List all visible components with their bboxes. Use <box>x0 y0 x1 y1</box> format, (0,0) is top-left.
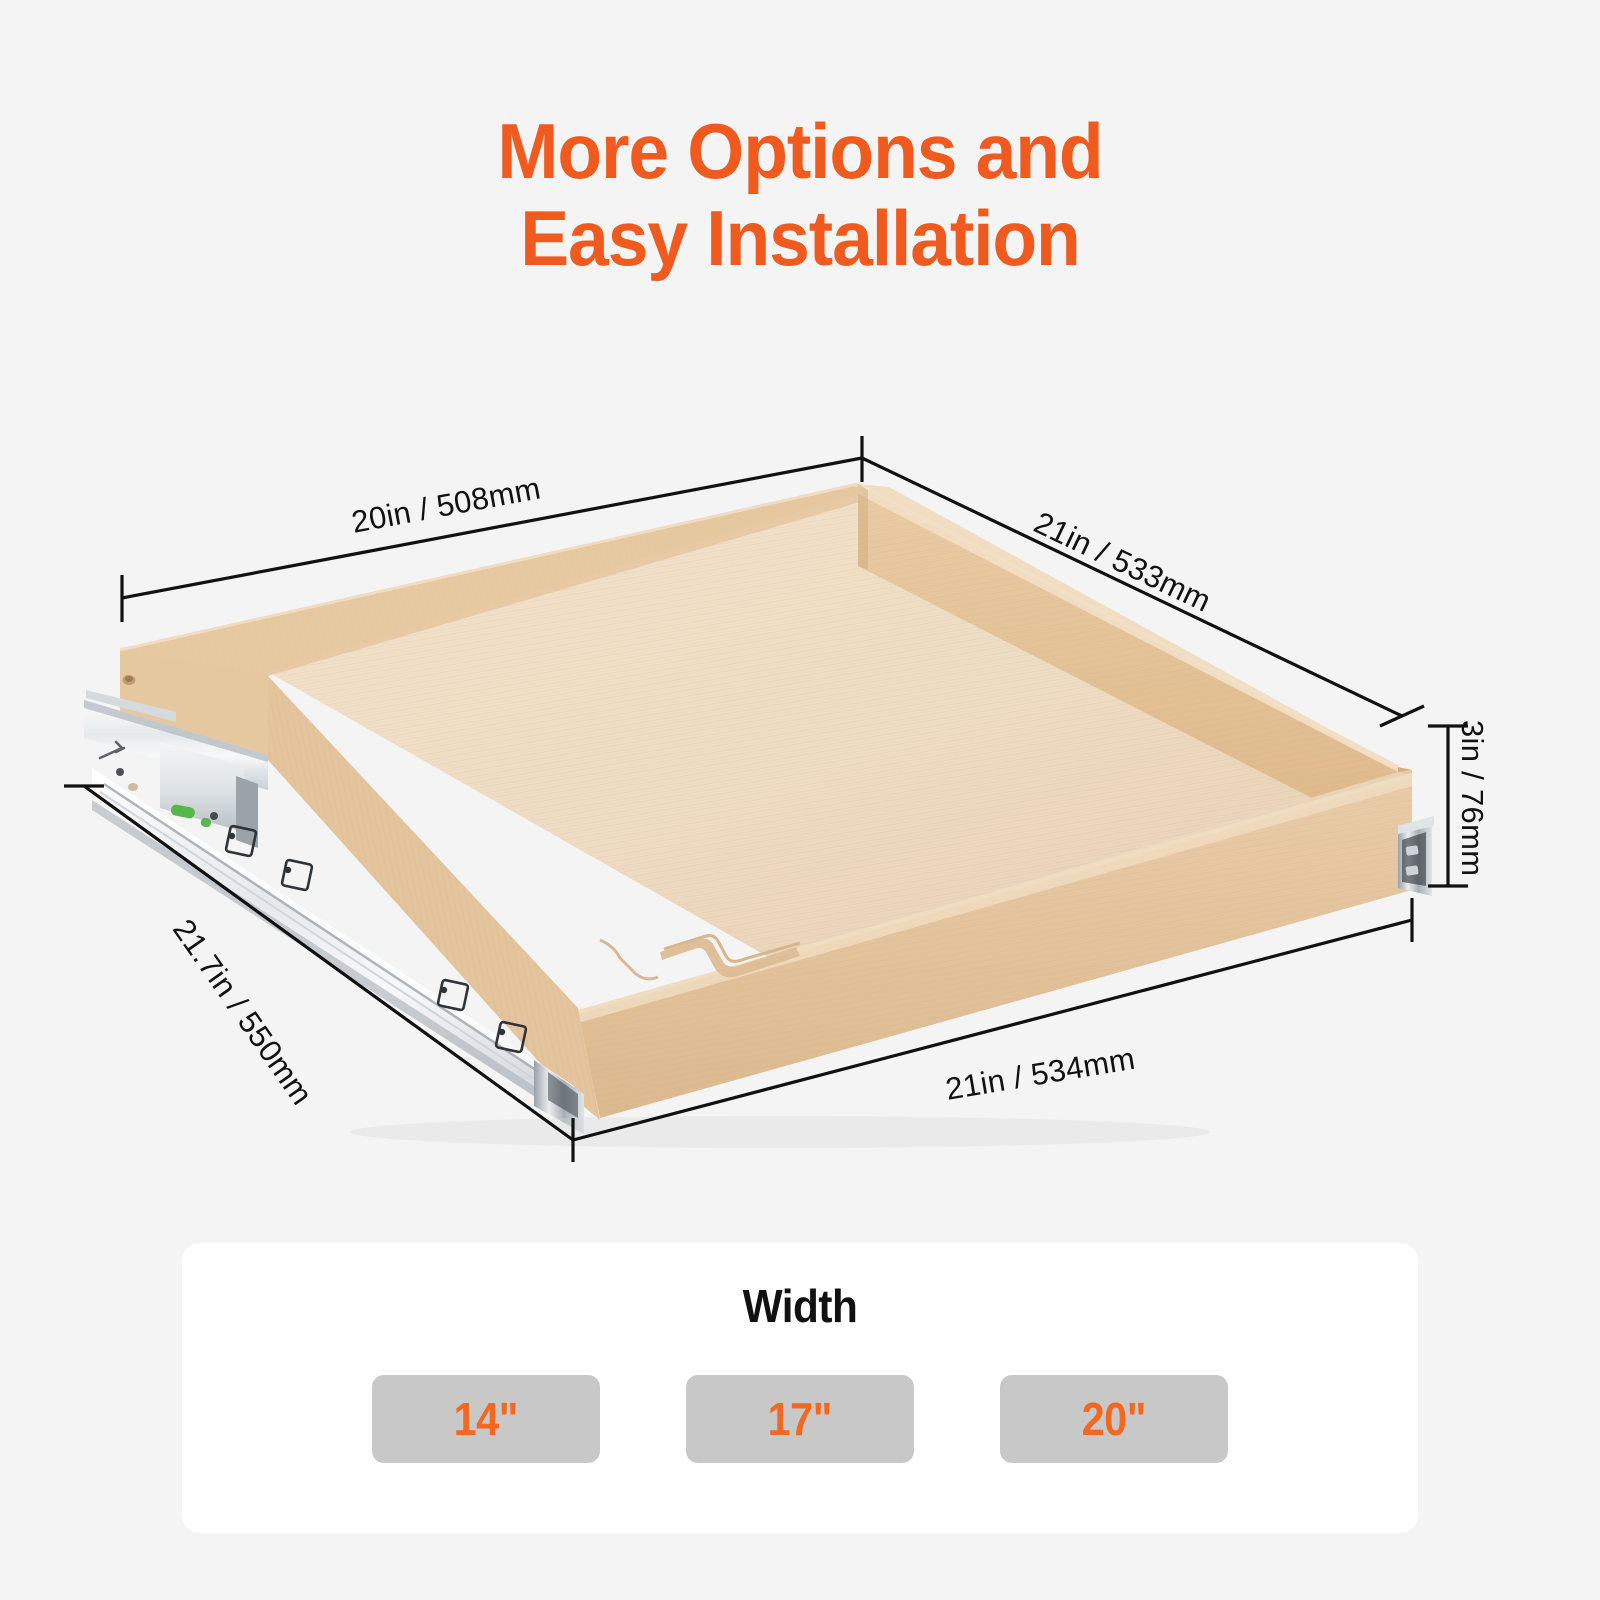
right-drawer-slide-bracket <box>1398 816 1434 896</box>
width-option-20-label: 20" <box>1082 1392 1146 1446</box>
width-option-group: 14" 17" 20" <box>182 1375 1418 1463</box>
infographic-stage: More Options and Easy Installation <box>0 0 1600 1600</box>
width-option-14[interactable]: 14" <box>372 1375 600 1463</box>
width-option-17[interactable]: 17" <box>686 1375 914 1463</box>
width-option-17-label: 17" <box>768 1392 832 1446</box>
width-option-card: Width 14" 17" 20" <box>182 1243 1418 1533</box>
width-option-20[interactable]: 20" <box>1000 1375 1228 1463</box>
dimension-label-height-right: 3in / 76mm <box>1454 720 1490 876</box>
width-card-title: Width <box>231 1279 1368 1333</box>
width-option-14-label: 14" <box>454 1392 518 1446</box>
